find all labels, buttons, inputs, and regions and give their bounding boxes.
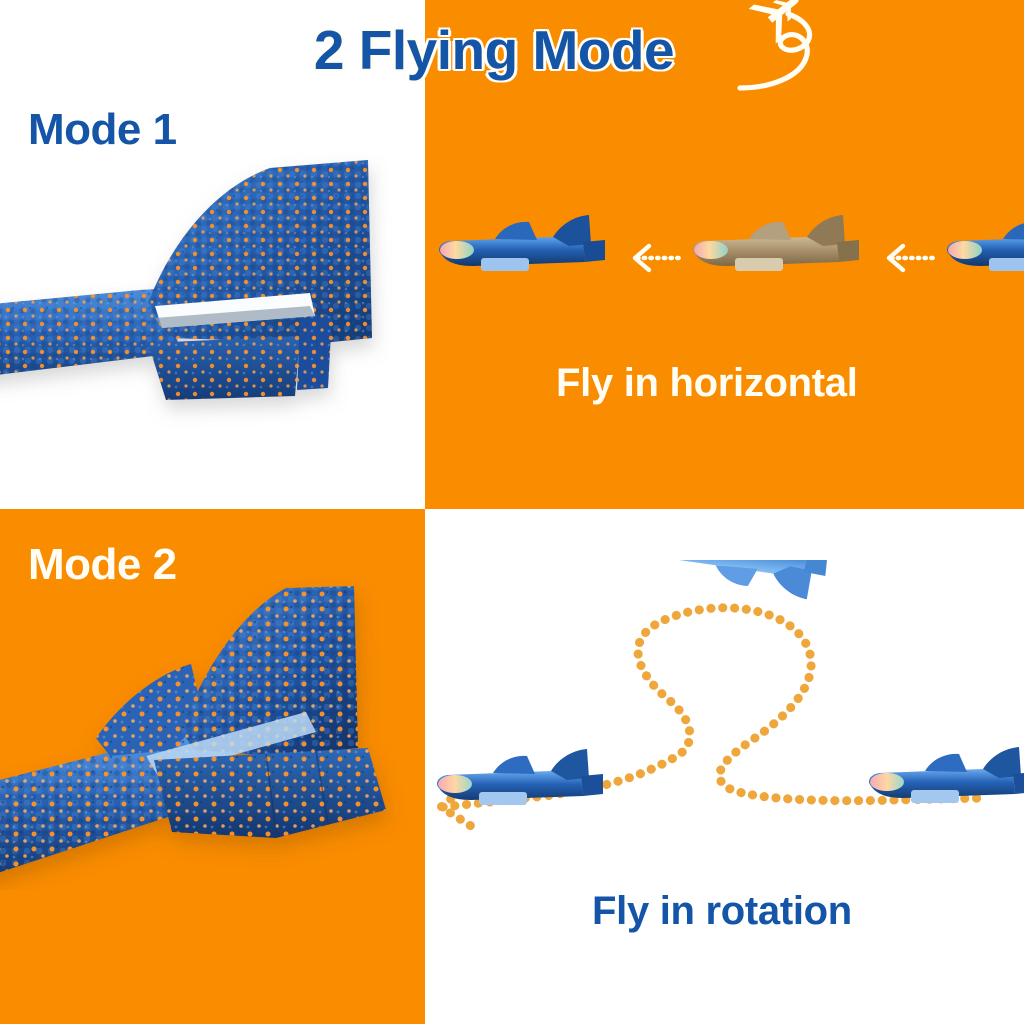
plane-rotation-right <box>869 747 1024 803</box>
infographic-page: 2 Flying Mode Mode 1 Mode 2 <box>0 0 1024 1024</box>
mode-1-label: Mode 1 <box>28 105 177 155</box>
plane-horizontal-left <box>439 215 605 271</box>
plane-horizontal-right <box>947 215 1024 271</box>
mode-2-label: Mode 2 <box>28 540 177 590</box>
mode-1-glider-photo <box>0 138 410 438</box>
plane-horizontal-middle <box>693 215 859 271</box>
rotation-flight-diagram <box>425 560 1024 860</box>
airplane-loop-swoosh-icon <box>726 0 830 100</box>
fly-horizontal-caption: Fly in horizontal <box>556 361 858 406</box>
dotted-arrow-right <box>889 246 933 270</box>
plane-rotation-inverted-top <box>658 560 829 601</box>
horizontal-flight-diagram <box>425 212 1024 302</box>
plane-rotation-left <box>437 749 603 805</box>
mode-2-glider-photo <box>0 560 416 890</box>
dotted-arrow-left <box>635 246 679 270</box>
fly-rotation-caption: Fly in rotation <box>592 889 852 934</box>
